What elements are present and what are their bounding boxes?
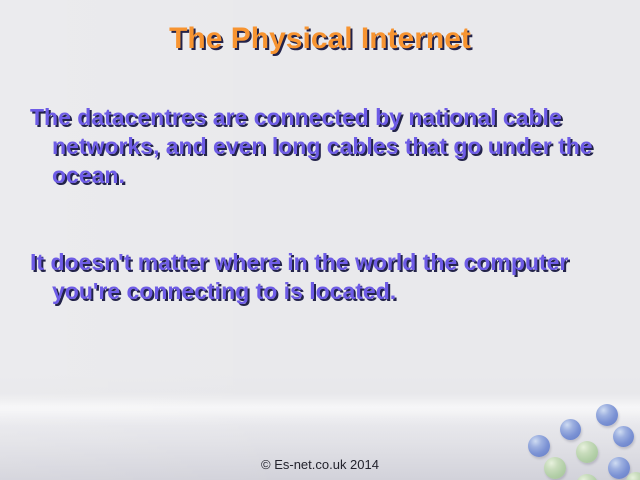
slide-body: The datacentres are connected by nationa… xyxy=(30,103,622,306)
decorative-sphere-blue-icon xyxy=(596,404,618,426)
decorative-sphere-green-icon xyxy=(576,474,598,480)
decorative-sphere-blue-icon xyxy=(528,435,550,457)
decorative-sphere-blue-icon xyxy=(560,419,581,440)
body-paragraph-2: It doesn't matter where in the world the… xyxy=(30,248,622,306)
decorative-sphere-blue-icon xyxy=(613,426,634,447)
body-paragraph-1: The datacentres are connected by nationa… xyxy=(30,103,622,190)
copyright-footer: © Es-net.co.uk 2014 xyxy=(0,457,640,472)
slide-canvas: The Physical Internet The datacentres ar… xyxy=(0,0,640,480)
page-title: The Physical Internet xyxy=(0,22,640,56)
decorative-sphere-green-icon xyxy=(626,472,640,480)
